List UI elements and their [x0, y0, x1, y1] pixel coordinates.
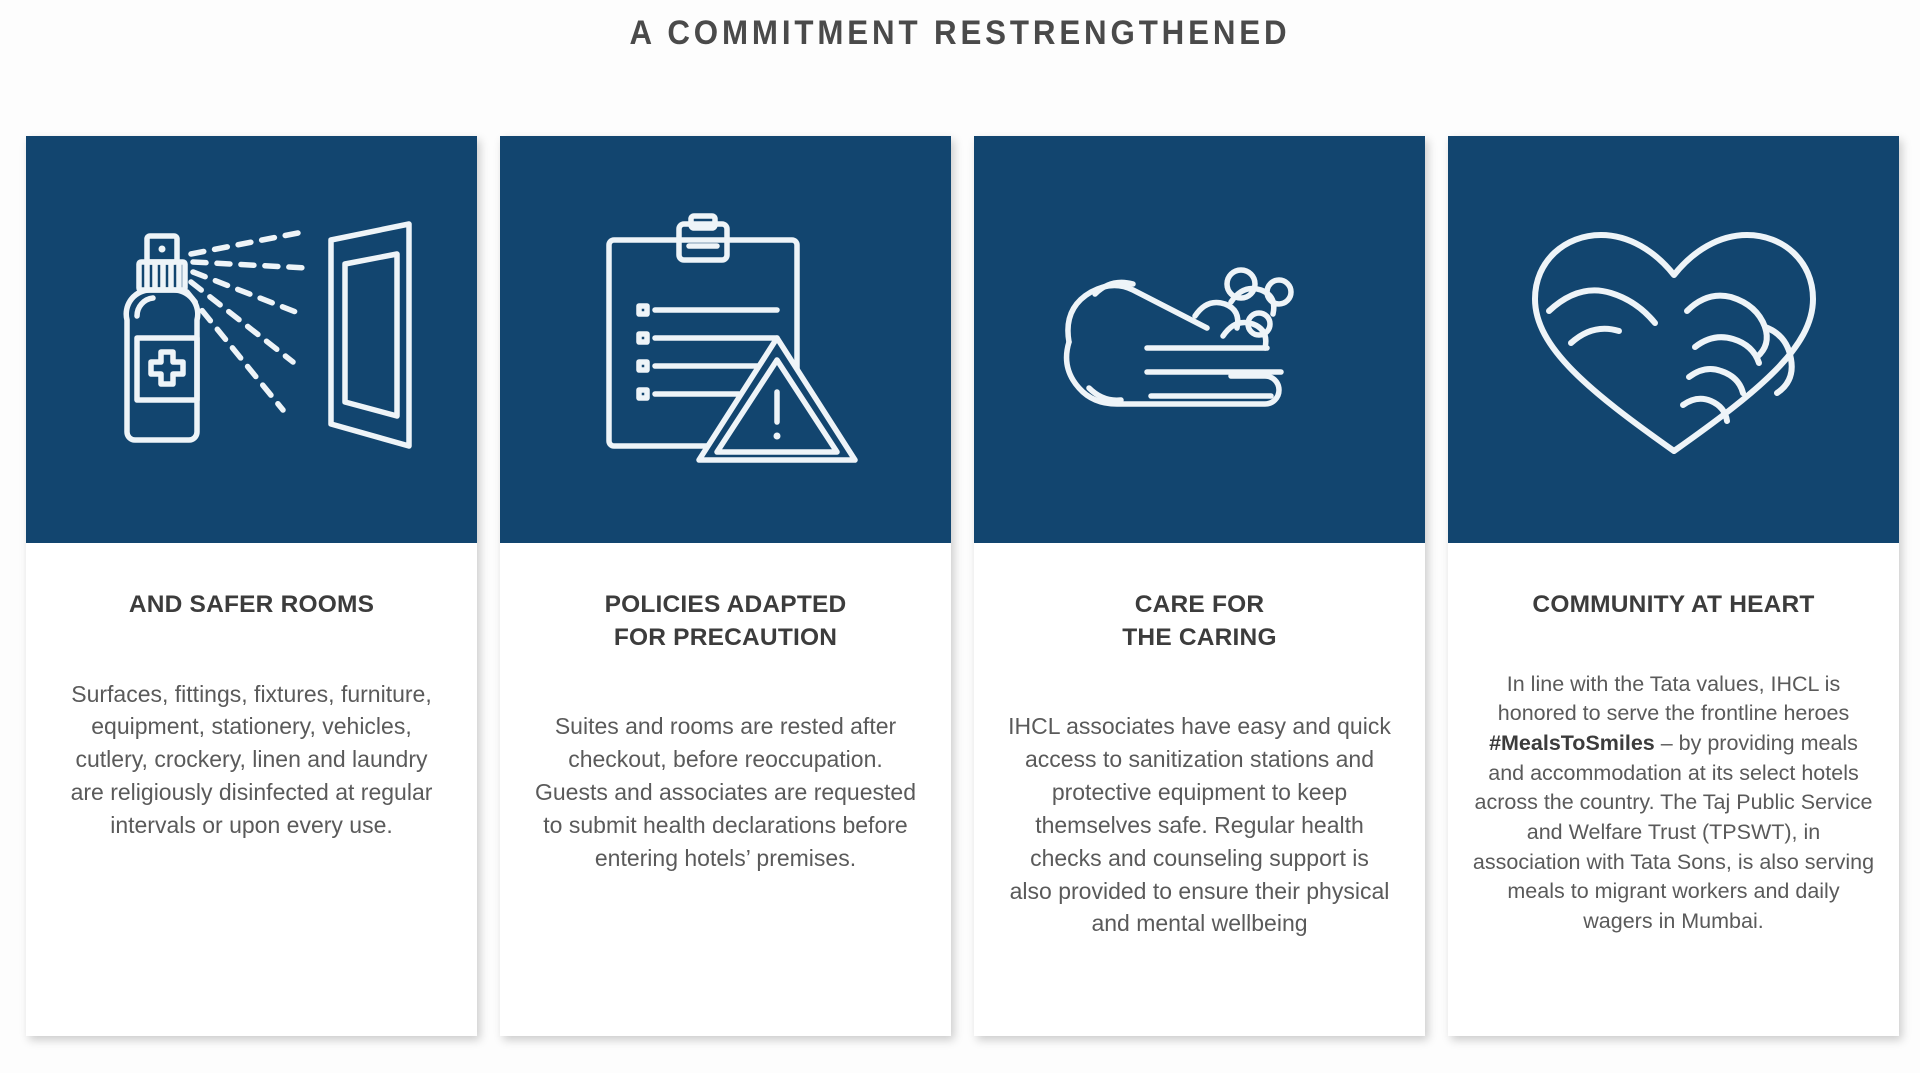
- icon-panel-3: [974, 136, 1425, 543]
- heart-handshake-icon: [1519, 215, 1829, 465]
- card-and-safer-rooms: AND SAFER ROOMS Surfaces, fittings, fixt…: [26, 136, 477, 1036]
- card-body: In line with the Tata values, IHCL is ho…: [1448, 670, 1899, 977]
- card-heading: POLICIES ADAPTED FOR PRECAUTION: [585, 589, 867, 654]
- card-heading: COMMUNITY AT HEART: [1512, 589, 1834, 622]
- icon-panel-2: [500, 136, 951, 543]
- card-policies-adapted: POLICIES ADAPTED FOR PRECAUTION Suites a…: [500, 136, 951, 1036]
- card-heading: CARE FOR THE CARING: [1102, 589, 1296, 654]
- icon-panel-4: [1448, 136, 1899, 543]
- card-community-at-heart: COMMUNITY AT HEART In line with the Tata…: [1448, 136, 1899, 1036]
- meals-to-smiles-hashtag: #MealsToSmiles: [1489, 731, 1655, 755]
- card-body: IHCL associates have easy and quick acce…: [974, 710, 1425, 980]
- card-body-part2: – by providing meals and accommodation a…: [1473, 731, 1874, 933]
- icon-panel-1: [26, 136, 477, 543]
- clipboard-checklist-warning-icon: [581, 210, 871, 470]
- sanitizer-spray-bottle-icon: [87, 210, 417, 470]
- page-title: A COMMITMENT RESTRENGTHENED: [77, 14, 1843, 53]
- infographic-page: A COMMITMENT RESTRENGTHENED: [0, 0, 1920, 1073]
- card-body: Surfaces, fittings, fixtures, furniture,…: [26, 678, 477, 882]
- card-heading: AND SAFER ROOMS: [109, 589, 394, 622]
- card-body-part1: In line with the Tata values, IHCL is ho…: [1498, 672, 1849, 726]
- card-body: Suites and rooms are rested after checko…: [500, 710, 951, 914]
- cards-row: AND SAFER ROOMS Surfaces, fittings, fixt…: [26, 136, 1898, 1036]
- card-care-for-the-caring: CARE FOR THE CARING IHCL associates have…: [974, 136, 1425, 1036]
- handwashing-sanitization-icon: [1035, 220, 1365, 460]
